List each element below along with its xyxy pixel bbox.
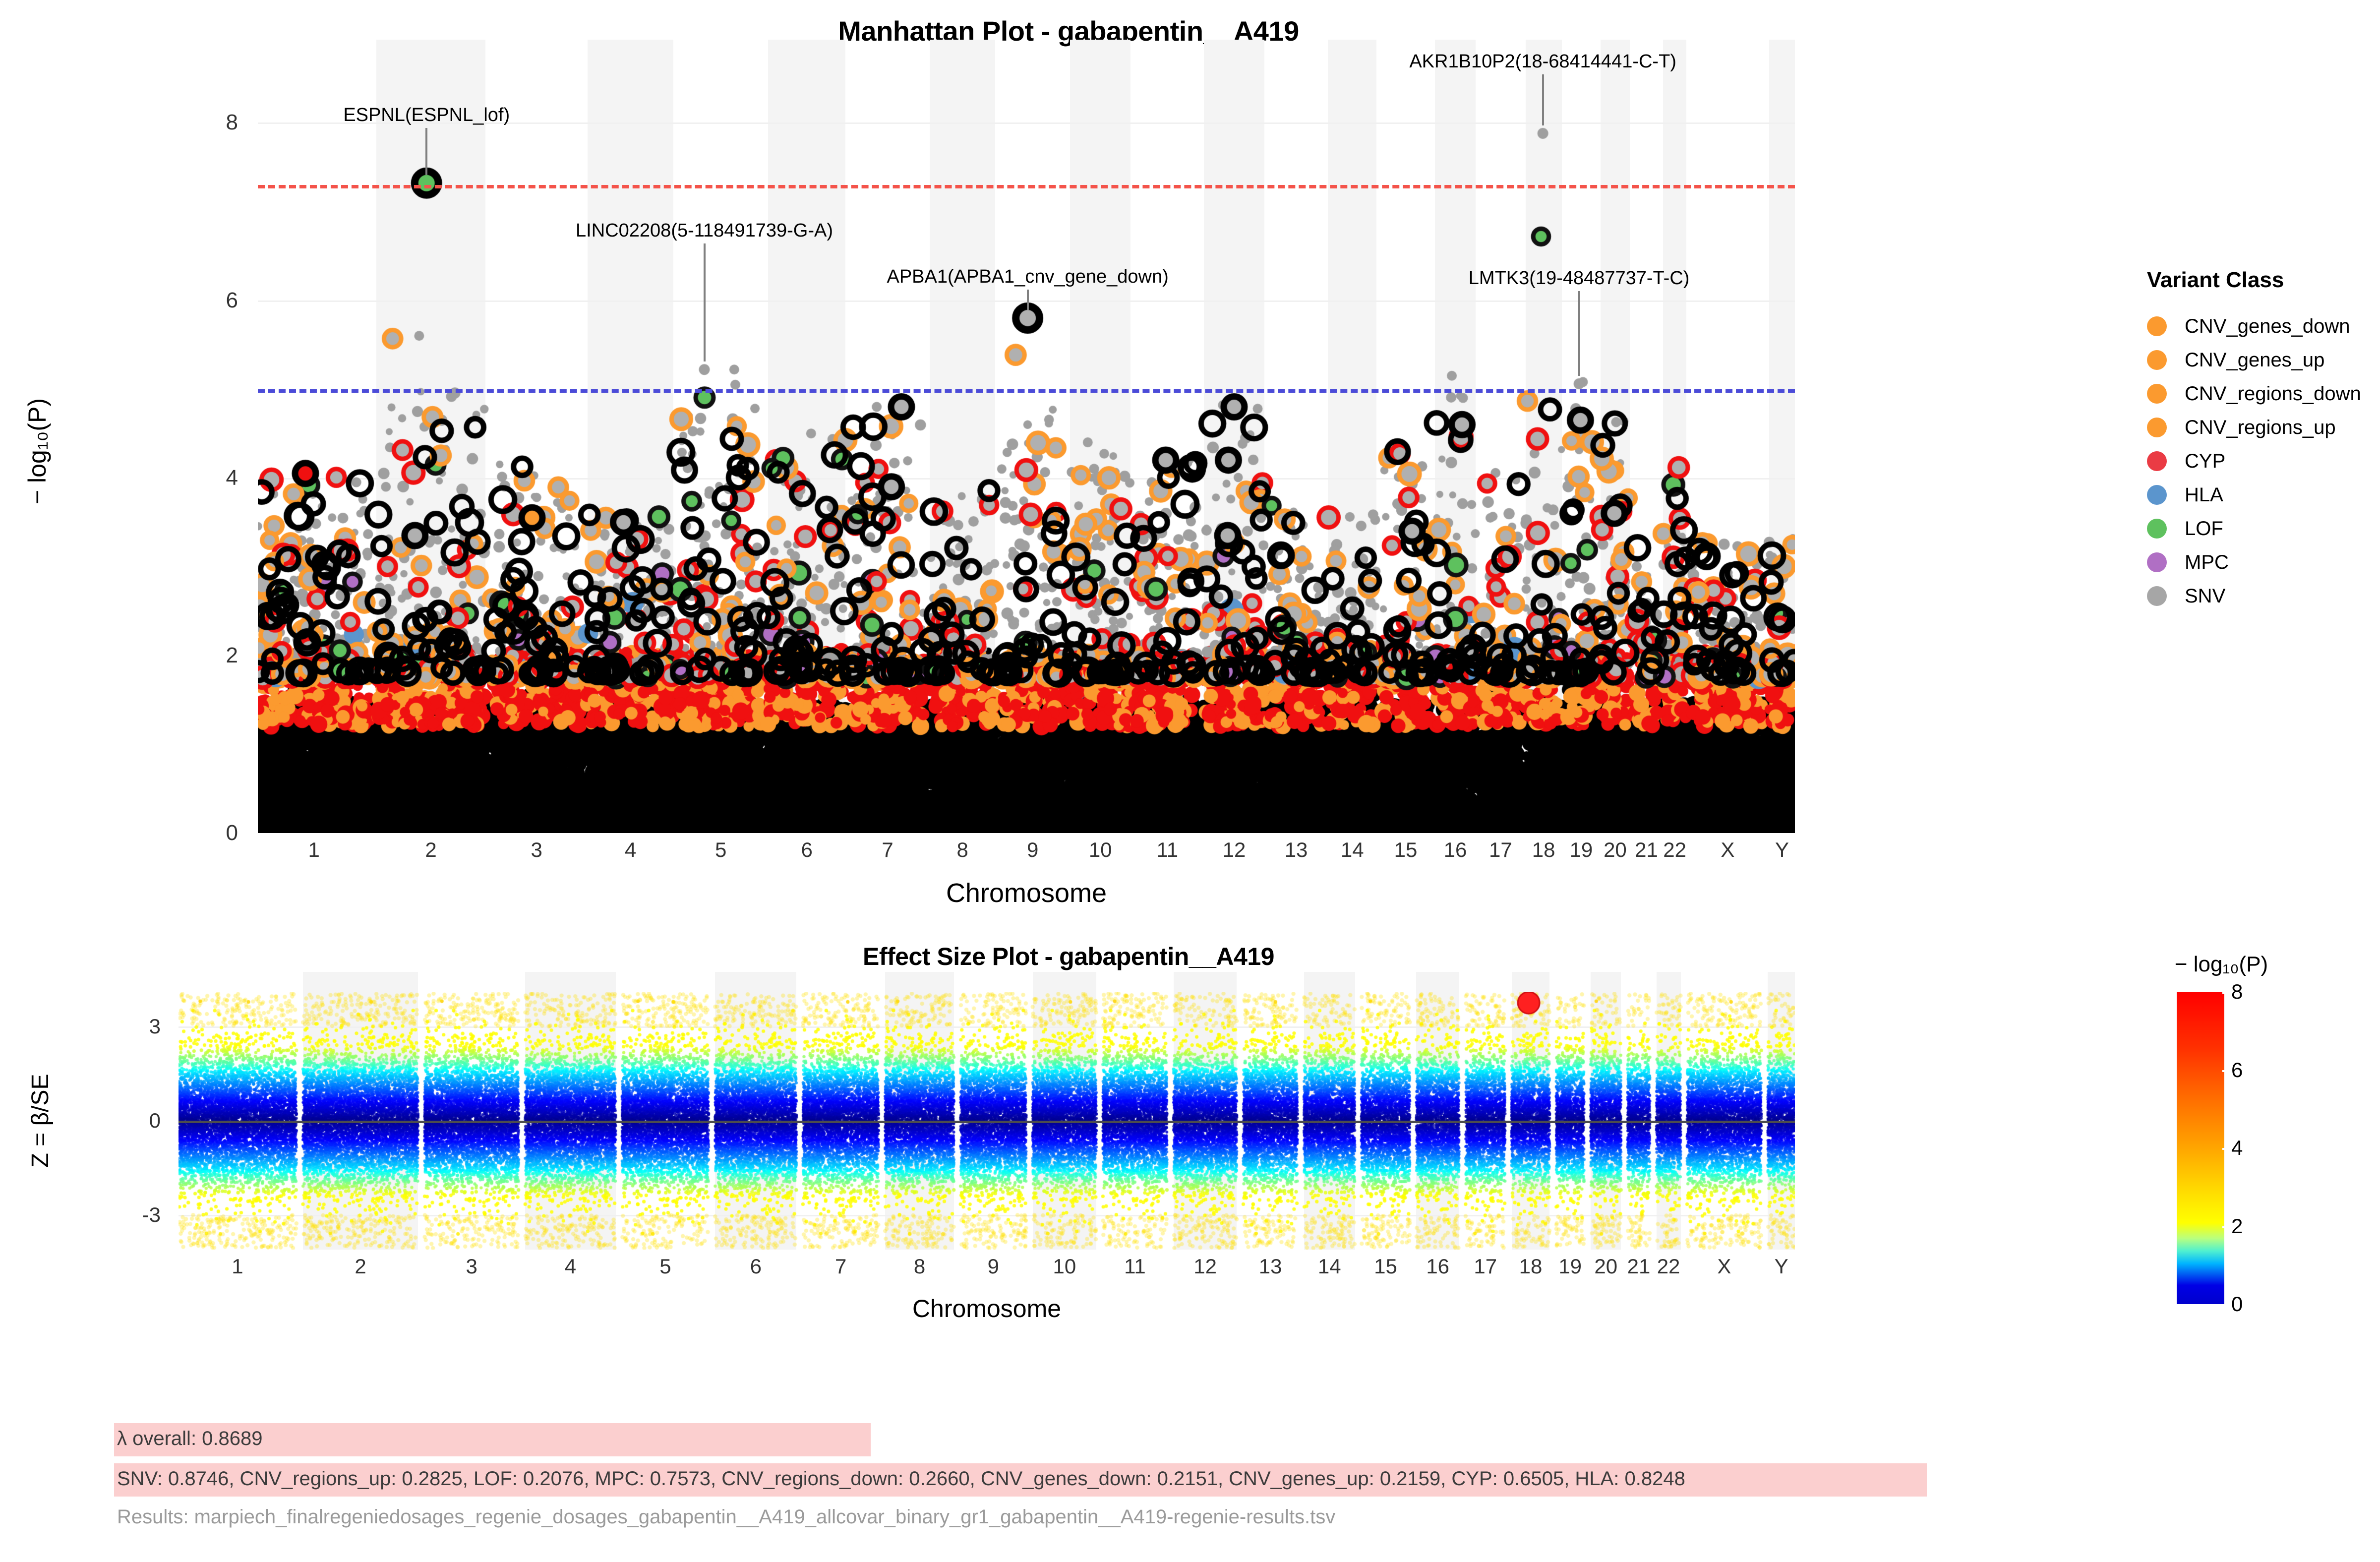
manhattan-x-tick-4: 4 bbox=[625, 838, 636, 862]
effect-x-tick-16: 16 bbox=[1426, 1255, 1449, 1278]
effect-x-tick-17: 17 bbox=[1474, 1255, 1497, 1278]
colorbar-tickmark-0 bbox=[2222, 1304, 2231, 1306]
manhattan-x-tick-19: 19 bbox=[1570, 838, 1593, 862]
manhattan-x-tick-5: 5 bbox=[715, 838, 726, 862]
manhattan-plot-area bbox=[258, 69, 1795, 833]
manhattan-y-tick-8: 8 bbox=[226, 110, 238, 135]
legend-item-label: HLA bbox=[2185, 484, 2223, 506]
manhattan-x-axis-label: Chromosome bbox=[258, 878, 1795, 908]
colorbar-tickmark-2 bbox=[2222, 1226, 2231, 1228]
effect-x-tick-4: 4 bbox=[565, 1255, 576, 1278]
effect-x-tick-3: 3 bbox=[466, 1255, 477, 1278]
legend-item-label: LOF bbox=[2185, 518, 2223, 540]
legend-item-label: CNV_regions_down bbox=[2185, 383, 2361, 405]
effect-x-tick-20: 20 bbox=[1594, 1255, 1617, 1278]
manhattan-y-tick-4: 4 bbox=[226, 466, 238, 490]
manhattan-plot-title: Manhattan Plot - gabapentin__A419 bbox=[0, 15, 2137, 47]
legend-swatch-cnv_genes_up bbox=[2147, 350, 2167, 370]
colorbar-tick-0: 0 bbox=[2231, 1292, 2243, 1316]
colorbar-tickmark-6 bbox=[2222, 1070, 2231, 1072]
manhattan-x-tick-X: X bbox=[1721, 838, 1734, 862]
legend-item-lof[interactable]: LOF bbox=[2147, 512, 2375, 545]
manhattan-x-axis: 12345678910111213141516171819202122XY bbox=[258, 838, 1795, 873]
legend-swatch-snv bbox=[2147, 586, 2167, 606]
effect-y-axis: -303 bbox=[0, 992, 178, 1250]
effect-y-tick-3: 3 bbox=[149, 1015, 161, 1038]
manhattan-x-tick-21: 21 bbox=[1635, 838, 1658, 862]
manhattan-x-tick-16: 16 bbox=[1444, 838, 1467, 862]
colorbar-tick-8: 8 bbox=[2231, 980, 2243, 1004]
legend-item-label: CNV_genes_up bbox=[2185, 349, 2324, 371]
colorbar-title: − log₁₀(P) bbox=[2147, 952, 2296, 977]
effect-x-tick-5: 5 bbox=[659, 1255, 671, 1278]
legend-item-label: CNV_regions_up bbox=[2185, 417, 2336, 439]
effect-size-plot-title: Effect Size Plot - gabapentin__A419 bbox=[0, 942, 2137, 971]
effect-x-tick-22: 22 bbox=[1657, 1255, 1680, 1278]
manhattan-panel: Manhattan Plot - gabapentin__A419 − log₁… bbox=[0, 0, 2137, 912]
effect-plot-area bbox=[178, 992, 1795, 1250]
manhattan-y-tick-0: 0 bbox=[226, 821, 238, 845]
manhattan-x-tick-9: 9 bbox=[1027, 838, 1038, 862]
legend-swatch-mpc bbox=[2147, 552, 2167, 572]
effect-y-tick--3: -3 bbox=[142, 1203, 161, 1227]
effect-size-panel: Effect Size Plot - gabapentin__A419 Z = … bbox=[0, 922, 2137, 1359]
legend-item-hla[interactable]: HLA bbox=[2147, 478, 2375, 512]
effect-x-tick-13: 13 bbox=[1259, 1255, 1282, 1278]
legend-item-label: MPC bbox=[2185, 551, 2229, 574]
effect-x-axis: 12345678910111213141516171819202122XY bbox=[178, 1255, 1795, 1289]
manhattan-x-tick-13: 13 bbox=[1285, 838, 1308, 862]
legend-item-cnv_genes_down[interactable]: CNV_genes_down bbox=[2147, 309, 2375, 343]
manhattan-scatter-points bbox=[258, 69, 1795, 833]
manhattan-y-tick-6: 6 bbox=[226, 288, 238, 313]
lambda-overall-text: λ overall: 0.8689 bbox=[114, 1423, 871, 1456]
legend-item-cyp[interactable]: CYP bbox=[2147, 444, 2375, 478]
colorbar-tickmark-8 bbox=[2222, 992, 2231, 994]
legend-swatch-lof bbox=[2147, 519, 2167, 539]
manhattan-x-tick-14: 14 bbox=[1341, 838, 1364, 862]
effect-x-tick-1: 1 bbox=[232, 1255, 243, 1278]
effect-x-tick-2: 2 bbox=[355, 1255, 366, 1278]
legend-swatch-cnv_regions_down bbox=[2147, 384, 2167, 404]
colorbar-tickmark-4 bbox=[2222, 1148, 2231, 1150]
legend-item-cnv_regions_down[interactable]: CNV_regions_down bbox=[2147, 377, 2375, 411]
legend-swatch-hla bbox=[2147, 485, 2167, 505]
results-path-line: Results: marpiech_finalregeniedosages_re… bbox=[114, 1504, 2271, 1530]
legend-swatch-cyp bbox=[2147, 451, 2167, 471]
legend-item-mpc[interactable]: MPC bbox=[2147, 545, 2375, 579]
effect-x-tick-X: X bbox=[1717, 1255, 1731, 1278]
manhattan-x-tick-22: 22 bbox=[1663, 838, 1686, 862]
variant-class-legend: Variant Class CNV_genes_downCNV_genes_up… bbox=[2147, 268, 2375, 613]
manhattan-y-axis: 02468 bbox=[0, 69, 258, 833]
effect-x-tick-7: 7 bbox=[835, 1255, 846, 1278]
manhattan-x-tick-2: 2 bbox=[425, 838, 436, 862]
footer-summary: λ overall: 0.8689 SNV: 0.8746, CNV_regio… bbox=[114, 1423, 2271, 1530]
legend-swatch-cnv_genes_down bbox=[2147, 316, 2167, 336]
lambda-overall-line: λ overall: 0.8689 bbox=[114, 1423, 2271, 1456]
manhattan-x-tick-11: 11 bbox=[1157, 838, 1179, 862]
legend-item-label: CNV_genes_down bbox=[2185, 315, 2350, 338]
effect-x-tick-19: 19 bbox=[1558, 1255, 1582, 1278]
effect-x-tick-21: 21 bbox=[1627, 1255, 1651, 1278]
effect-x-tick-14: 14 bbox=[1318, 1255, 1341, 1278]
effect-x-tick-8: 8 bbox=[914, 1255, 925, 1278]
legend-item-cnv_regions_up[interactable]: CNV_regions_up bbox=[2147, 411, 2375, 444]
effect-x-tick-15: 15 bbox=[1374, 1255, 1397, 1278]
lambda-detail-line: SNV: 0.8746, CNV_regions_up: 0.2825, LOF… bbox=[114, 1463, 2271, 1497]
effect-zero-line bbox=[178, 1121, 1795, 1123]
manhattan-x-tick-15: 15 bbox=[1394, 838, 1418, 862]
effect-x-tick-11: 11 bbox=[1124, 1255, 1146, 1278]
colorbar-gradient bbox=[2177, 992, 2224, 1304]
legend-item-label: SNV bbox=[2185, 585, 2225, 607]
manhattan-x-tick-7: 7 bbox=[882, 838, 893, 862]
manhattan-x-tick-20: 20 bbox=[1604, 838, 1627, 862]
manhattan-x-tick-18: 18 bbox=[1532, 838, 1555, 862]
effect-y-tick-0: 0 bbox=[149, 1109, 161, 1133]
effect-x-tick-Y: Y bbox=[1775, 1255, 1788, 1278]
effect-x-tick-12: 12 bbox=[1193, 1255, 1217, 1278]
lambda-detail-text: SNV: 0.8746, CNV_regions_up: 0.2825, LOF… bbox=[114, 1463, 1927, 1497]
manhattan-x-tick-6: 6 bbox=[801, 838, 812, 862]
colorbar-ticks: 02468 bbox=[2231, 992, 2350, 1304]
legend-swatch-cnv_regions_up bbox=[2147, 418, 2167, 437]
manhattan-x-tick-1: 1 bbox=[308, 838, 319, 862]
legend-title: Variant Class bbox=[2147, 268, 2375, 293]
manhattan-x-tick-Y: Y bbox=[1775, 838, 1789, 862]
legend-item-label: CYP bbox=[2185, 450, 2225, 473]
manhattan-x-tick-10: 10 bbox=[1089, 838, 1112, 862]
threshold-suggestive-significance bbox=[258, 389, 1795, 393]
colorbar-tick-2: 2 bbox=[2231, 1214, 2243, 1238]
effect-x-tick-10: 10 bbox=[1053, 1255, 1076, 1278]
manhattan-x-tick-17: 17 bbox=[1489, 838, 1512, 862]
colorbar-tick-6: 6 bbox=[2231, 1058, 2243, 1082]
manhattan-x-tick-12: 12 bbox=[1223, 838, 1246, 862]
legend-rows: CNV_genes_downCNV_genes_upCNV_regions_do… bbox=[2147, 309, 2375, 613]
effect-x-tick-6: 6 bbox=[750, 1255, 762, 1278]
manhattan-x-tick-3: 3 bbox=[531, 838, 542, 862]
legend-item-snv[interactable]: SNV bbox=[2147, 579, 2375, 613]
effect-x-tick-9: 9 bbox=[988, 1255, 999, 1278]
colorbar-tick-4: 4 bbox=[2231, 1136, 2243, 1160]
effect-x-tick-18: 18 bbox=[1519, 1255, 1543, 1278]
effect-x-axis-label: Chromosome bbox=[178, 1294, 1795, 1323]
manhattan-y-tick-2: 2 bbox=[226, 643, 238, 668]
threshold-genome-wide-significance bbox=[258, 185, 1795, 188]
manhattan-x-tick-8: 8 bbox=[957, 838, 968, 862]
legend-item-cnv_genes_up[interactable]: CNV_genes_up bbox=[2147, 343, 2375, 377]
pvalue-colorbar: − log₁₀(P) 02468 bbox=[2147, 952, 2365, 1339]
